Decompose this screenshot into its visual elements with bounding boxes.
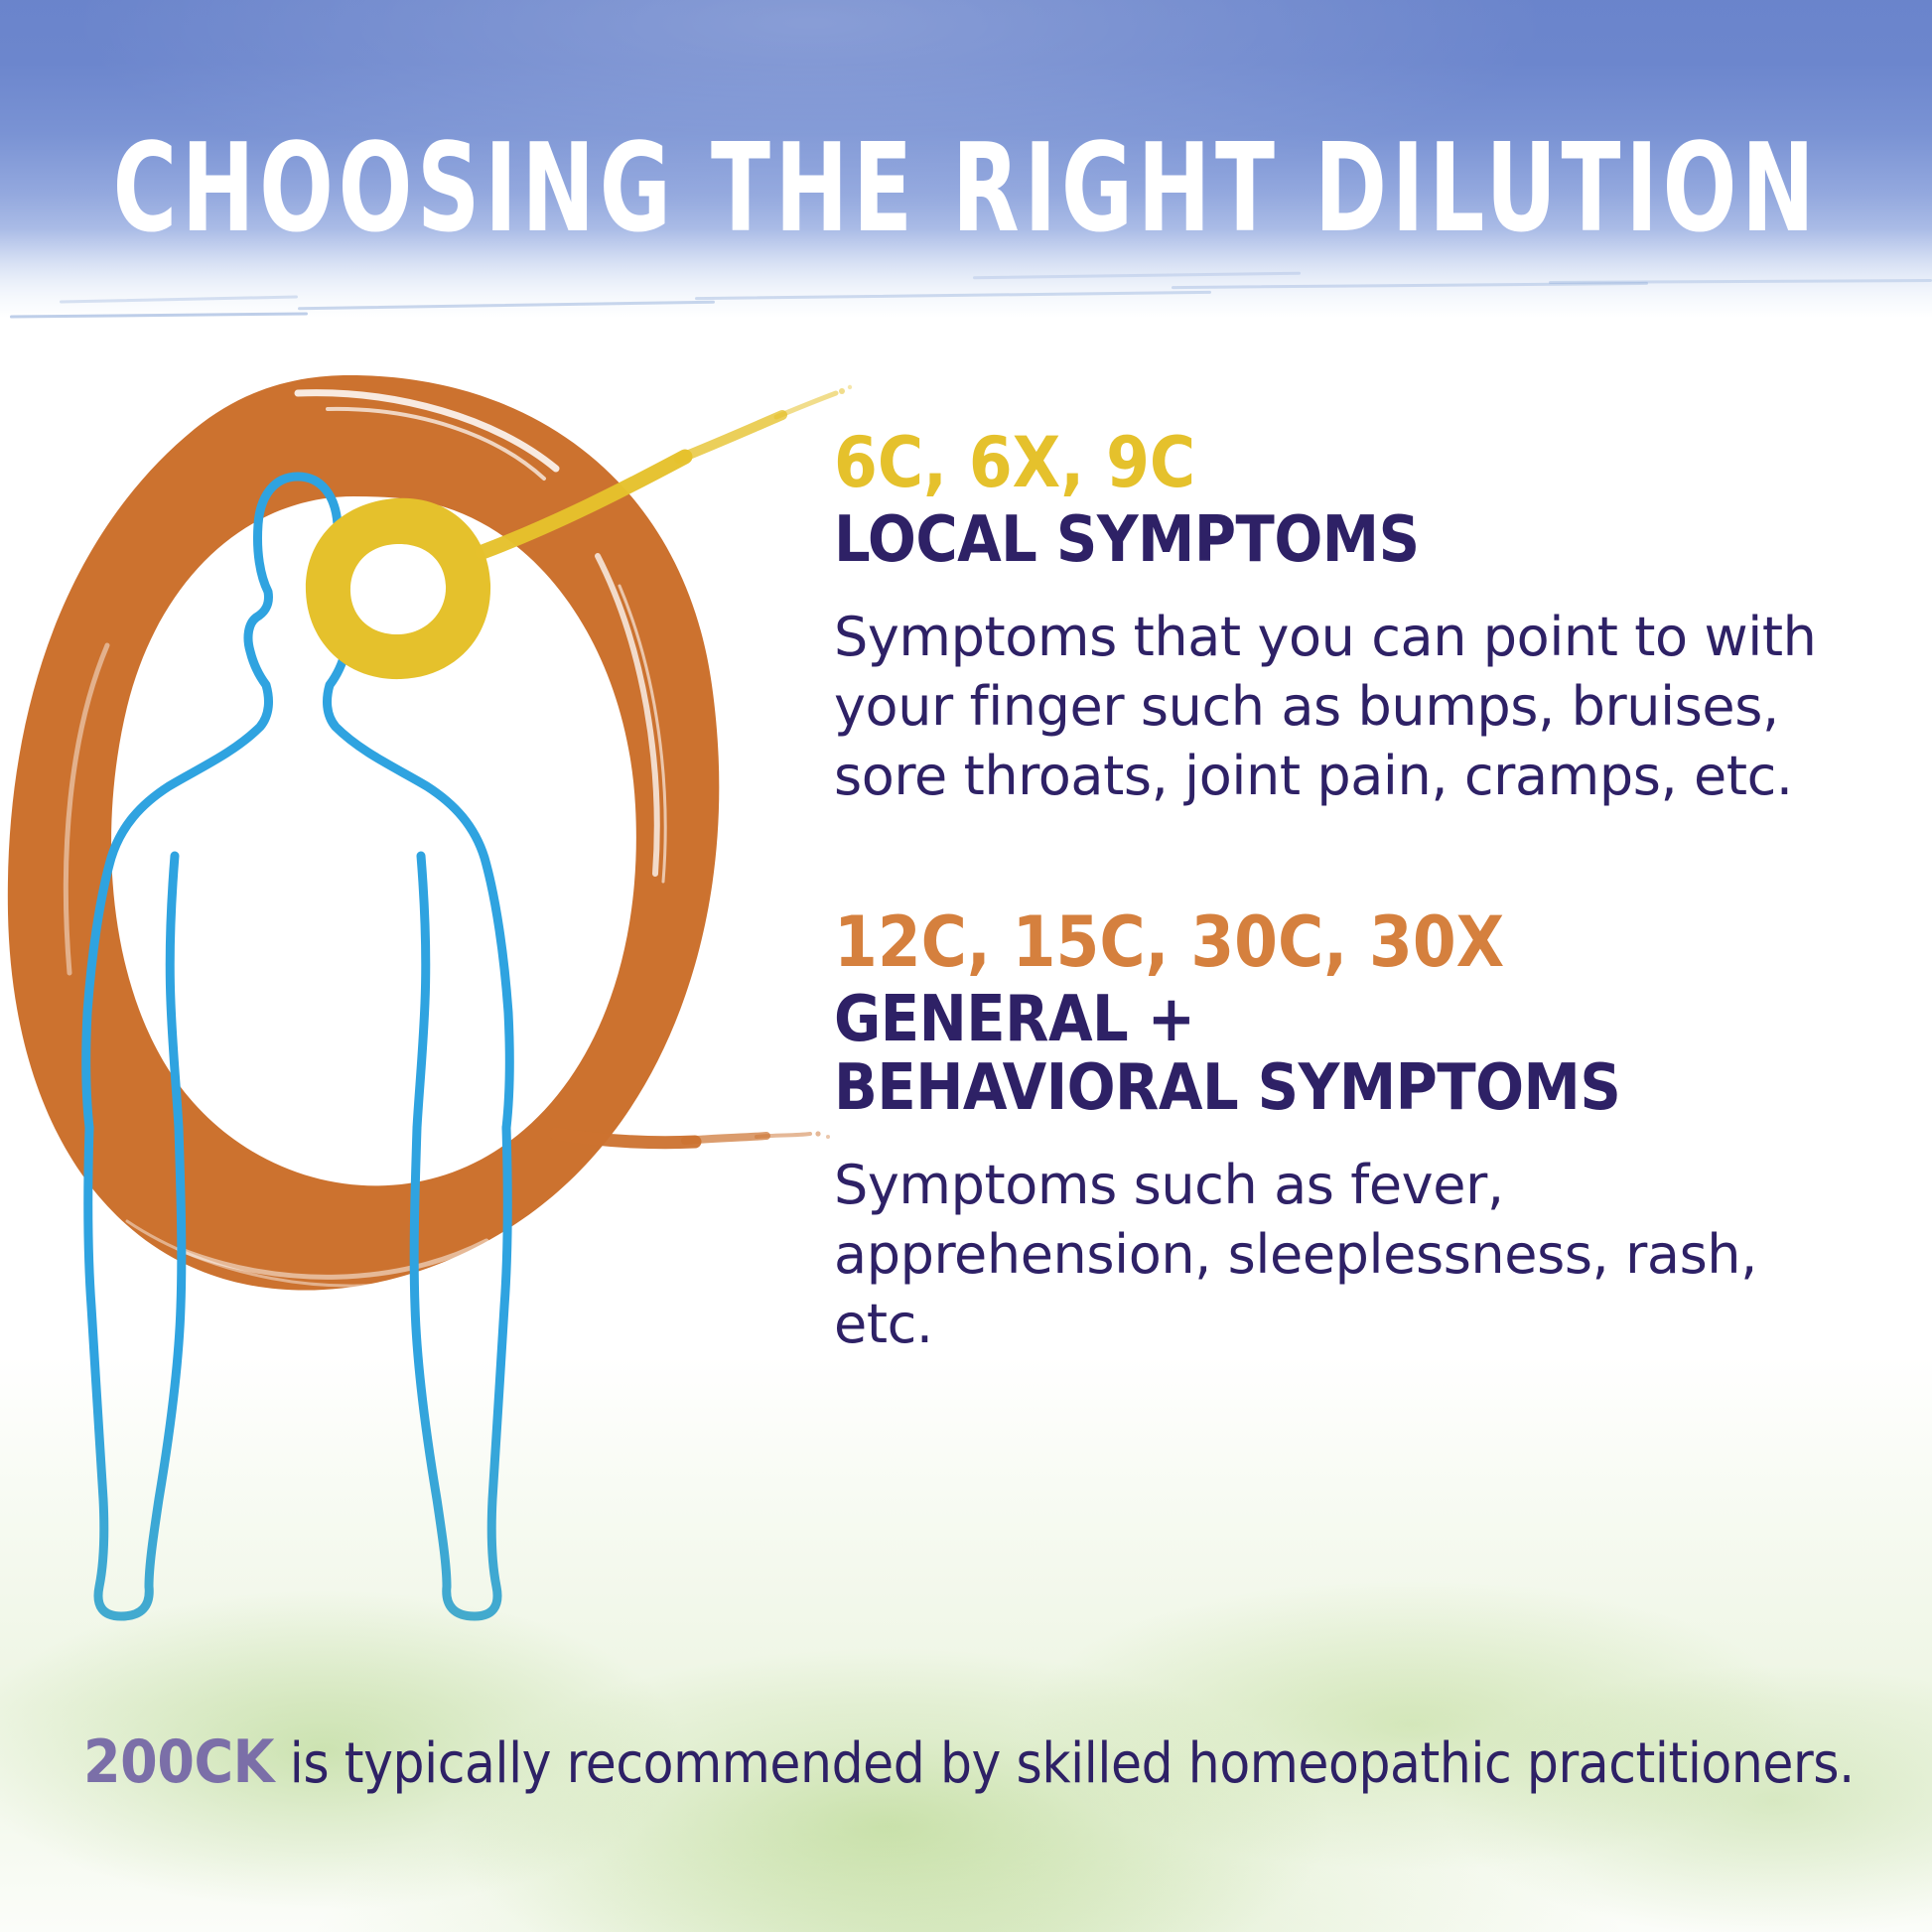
footer-highlight: 200CK: [83, 1727, 274, 1797]
footer-banner: [0, 1316, 1932, 1932]
header-banner: CHOOSING THE RIGHT DILUTION: [0, 0, 1932, 357]
symptom-block-general: 12C, 15C, 30C, 30X GENERAL + BEHAVIORAL …: [834, 906, 1886, 1359]
dilution-label-general: 12C, 15C, 30C, 30X: [834, 906, 1886, 980]
symptom-title-general: GENERAL + BEHAVIORAL SYMPTOMS: [834, 986, 1886, 1123]
dilution-label-local: 6C, 6X, 9C: [834, 427, 1886, 500]
footer-watercolor-background: [0, 1356, 1932, 1932]
symptom-block-local: 6C, 6X, 9C LOCAL SYMPTOMS Symptoms that …: [834, 427, 1886, 811]
symptom-title-general-line1: GENERAL +: [834, 986, 1886, 1054]
infographic-canvas: CHOOSING THE RIGHT DILUTION: [0, 0, 1932, 1932]
symptom-title-general-line2: BEHAVIORAL SYMPTOMS: [834, 1054, 1886, 1123]
footer-note: 200CK is typically recommended by skille…: [83, 1729, 1870, 1795]
orange-pointer-line: [556, 1131, 830, 1142]
footer-note-text: is typically recommended by skilled home…: [274, 1731, 1855, 1796]
symptom-body-local: Symptoms that you can point to with your…: [834, 603, 1827, 812]
symptom-blocks: 6C, 6X, 9C LOCAL SYMPTOMS Symptoms that …: [834, 427, 1886, 1359]
symptom-title-local: LOCAL SYMPTOMS: [834, 506, 1886, 575]
symptom-title-local-line1: LOCAL SYMPTOMS: [834, 503, 1420, 577]
shoulder-symptom-marker: [306, 498, 490, 679]
page-title: CHOOSING THE RIGHT DILUTION: [58, 127, 1873, 249]
